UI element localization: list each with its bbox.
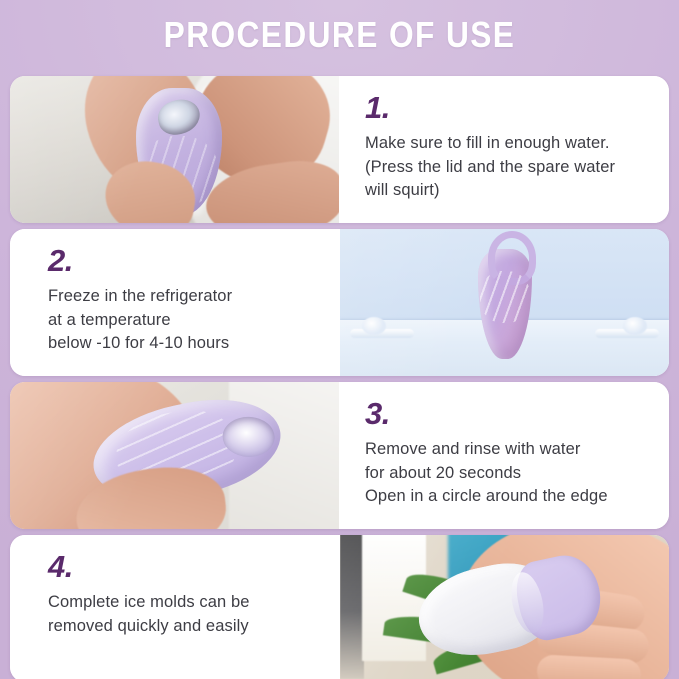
step-1-description: Make sure to fill in enough water. (Pres… (365, 132, 655, 203)
photo-freezer-illustration (340, 229, 669, 376)
step-4-photo (340, 535, 669, 679)
step-3-number: 3. (365, 398, 655, 429)
page-title: PROCEDURE OF USE (41, 14, 639, 56)
window-light-shape (362, 535, 426, 661)
mold-opening-shape (155, 96, 203, 138)
photo-remove-ice-illustration (340, 535, 669, 679)
window-frame-shape (340, 535, 364, 679)
step-row-1: 1. Make sure to fill in enough water. (P… (10, 76, 669, 223)
step-2-text: 2. Freeze in the refrigerator at a tempe… (10, 229, 340, 376)
photo-rinse-illustration (10, 382, 339, 529)
steps-list: 1. Make sure to fill in enough water. (P… (10, 76, 669, 679)
shelf-knob-left-shape (362, 317, 386, 335)
step-3-photo (10, 382, 339, 529)
step-3-description: Remove and rinse with water for about 20… (365, 438, 655, 509)
step-4-number: 4. (48, 551, 326, 582)
step-1-text: 1. Make sure to fill in enough water. (P… (339, 76, 669, 223)
procedure-infographic: PROCEDURE OF USE (0, 0, 679, 679)
photo-fill-water-illustration (10, 76, 339, 223)
shelf-knob-right-shape (623, 317, 647, 335)
finger-shape (536, 654, 642, 679)
step-row-2: 2. Freeze in the refrigerator at a tempe… (10, 229, 669, 376)
step-1-number: 1. (365, 92, 655, 123)
step-3-text: 3. Remove and rinse with water for about… (339, 382, 669, 529)
step-row-3: 3. Remove and rinse with water for about… (10, 382, 669, 529)
step-1-photo (10, 76, 339, 223)
step-2-photo (340, 229, 669, 376)
step-2-description: Freeze in the refrigerator at a temperat… (48, 285, 326, 356)
mold-swirl-texture (480, 271, 530, 323)
step-row-4: 4. Complete ice molds can be removed qui… (10, 535, 669, 679)
step-2-number: 2. (48, 245, 326, 276)
step-4-description: Complete ice molds can be removed quickl… (48, 591, 326, 638)
step-4-text: 4. Complete ice molds can be removed qui… (10, 535, 340, 679)
